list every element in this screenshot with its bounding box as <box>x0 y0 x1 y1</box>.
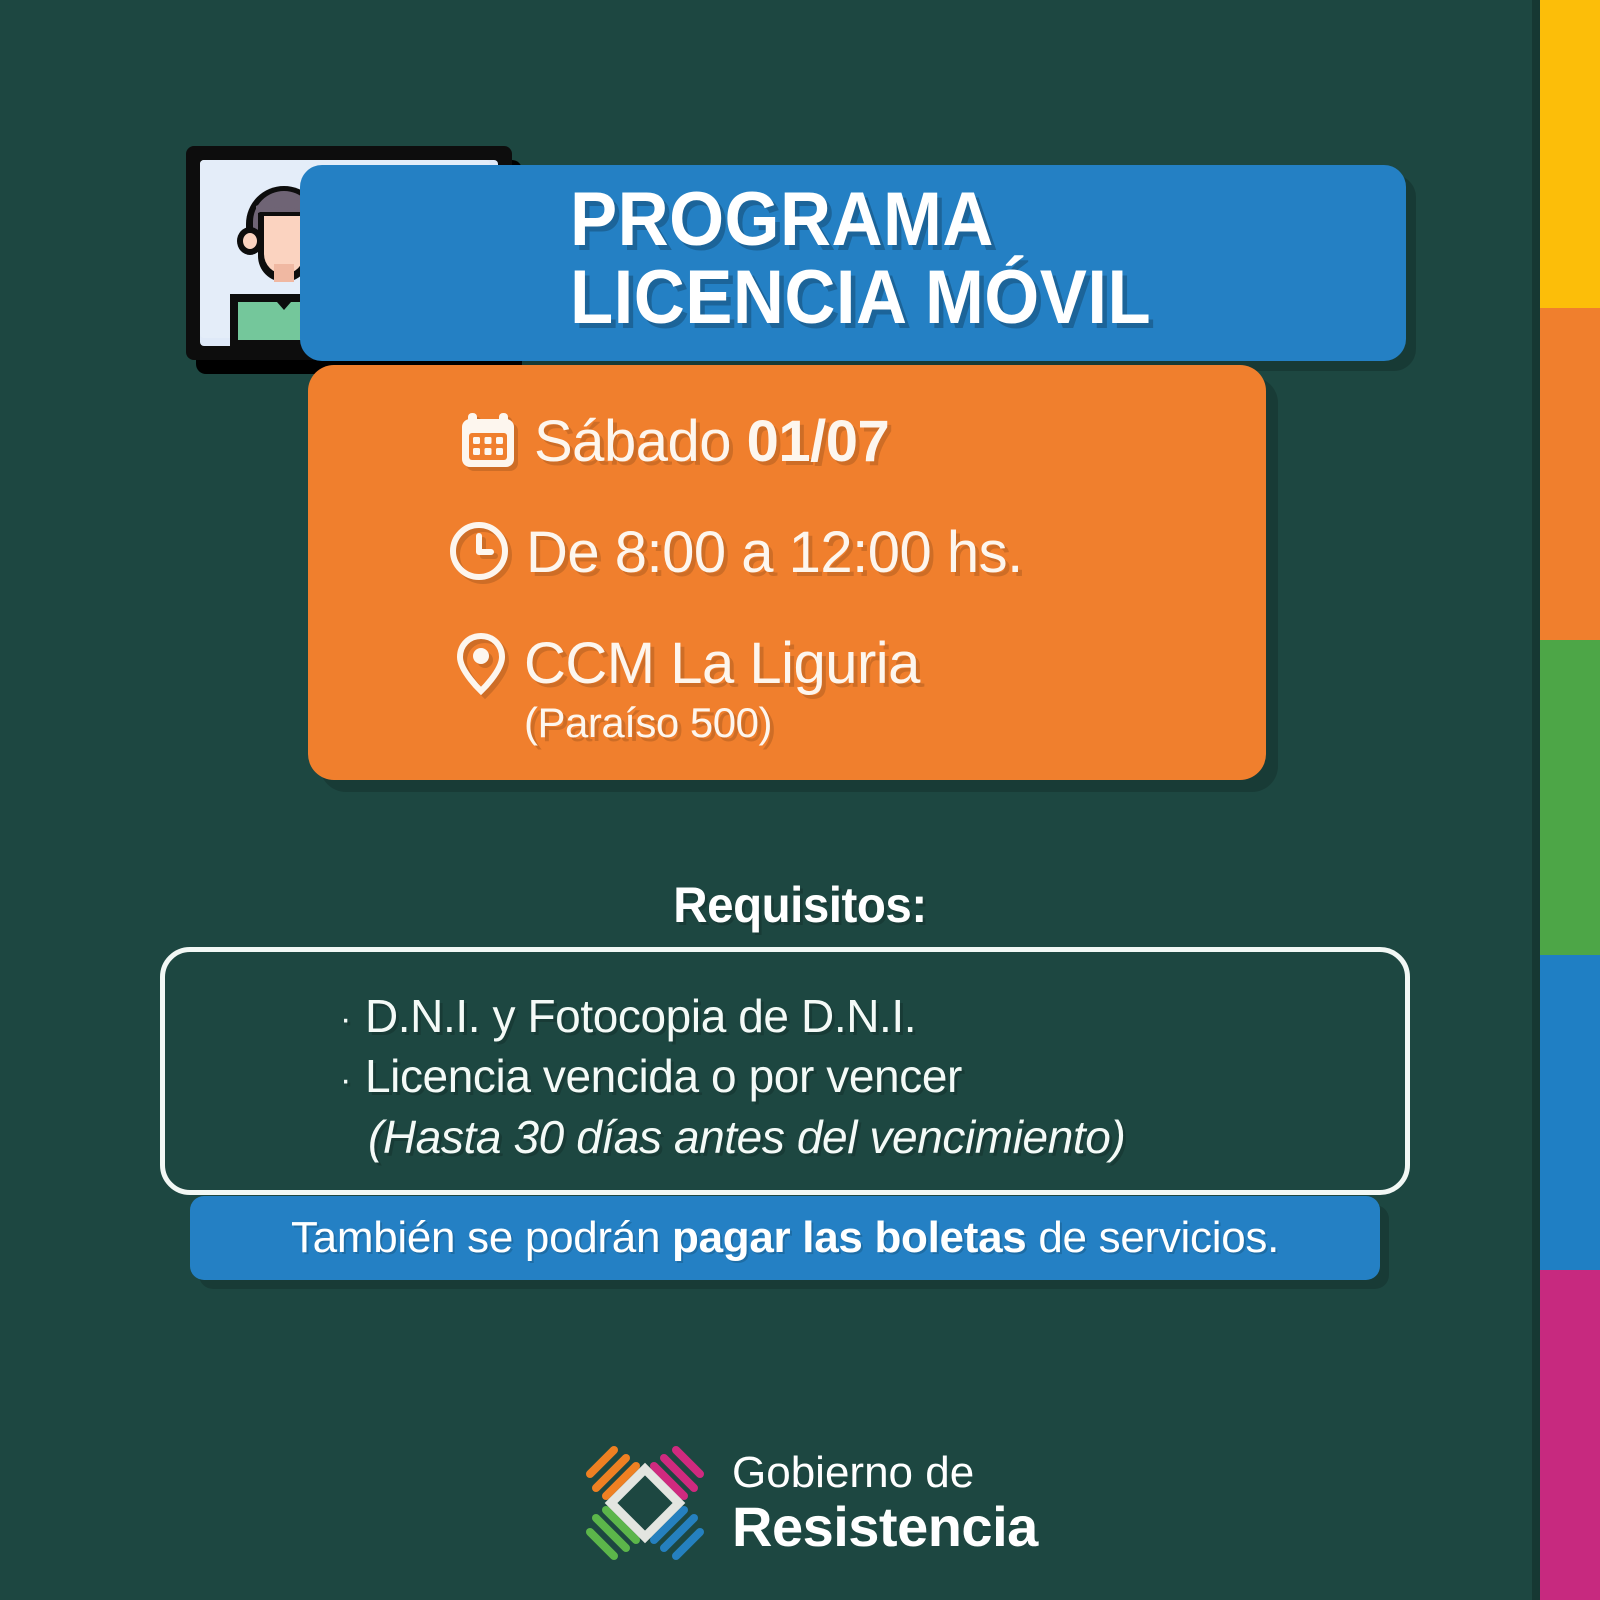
government-diamond-logo-icon <box>580 1438 710 1568</box>
payment-notice-text: También se podrán pagar las boletas de s… <box>291 1213 1279 1263</box>
event-time-text: De 8:00 a 12:00 hs. <box>526 522 1023 584</box>
right-colour-strip <box>1540 0 1600 1600</box>
event-place-text: CCM La Liguria (Paraíso 500) <box>524 633 920 749</box>
requirements-list: ·D.N.I. y Fotocopia de D.N.I. ·Licencia … <box>340 988 1125 1166</box>
event-place-address: (Paraíso 500) <box>524 697 920 749</box>
requirements-box: ·D.N.I. y Fotocopia de D.N.I. ·Licencia … <box>160 947 1410 1195</box>
payment-suffix: de servicios. <box>1026 1213 1279 1262</box>
title-plate: PROGRAMA LICENCIA MÓVIL <box>300 165 1406 361</box>
edge-strip-segment-5 <box>1540 1270 1600 1600</box>
requirement-note: (Hasta 30 días antes del vencimiento) <box>340 1109 1125 1166</box>
logo-wordmark: Gobierno de Resistencia <box>732 1451 1038 1555</box>
event-info-card: Sábado 01/07 De 8:00 a 12:00 hs. CCM La … <box>308 365 1266 780</box>
logo-line-1: Gobierno de <box>732 1451 1038 1495</box>
payment-notice-bar: También se podrán pagar las boletas de s… <box>190 1196 1380 1280</box>
map-pin-icon <box>456 633 506 695</box>
edge-strip-gap <box>1532 0 1540 1600</box>
payment-highlight: pagar las boletas <box>672 1213 1026 1262</box>
event-date-text: Sábado 01/07 <box>534 411 889 473</box>
page-title: PROGRAMA LICENCIA MÓVIL <box>570 181 1151 338</box>
government-logo: Gobierno de Resistencia <box>580 1438 1038 1568</box>
requirement-text-1: D.N.I. y Fotocopia de D.N.I. <box>365 990 916 1042</box>
clock-icon <box>450 522 508 580</box>
event-date-value: 01/07 <box>747 409 890 474</box>
requirements-title: Requisitos: <box>40 876 1560 934</box>
bullet-icon: · <box>340 1061 351 1099</box>
event-place-row: CCM La Liguria (Paraíso 500) <box>456 633 920 749</box>
list-item: ·D.N.I. y Fotocopia de D.N.I. <box>340 988 1125 1048</box>
edge-strip-segment-2 <box>1540 308 1600 640</box>
event-place-label: CCM La Liguria <box>524 631 920 696</box>
edge-strip-segment-1 <box>1540 0 1600 308</box>
edge-strip-segment-4 <box>1540 955 1600 1270</box>
logo-line-2: Resistencia <box>732 1499 1038 1555</box>
list-item: ·Licencia vencida o por vencer (Hasta 30… <box>340 1048 1125 1165</box>
event-time-row: De 8:00 a 12:00 hs. <box>450 522 1023 584</box>
event-date-row: Sábado 01/07 <box>460 411 889 473</box>
payment-prefix: También se podrán <box>291 1213 672 1262</box>
bullet-icon: · <box>340 1000 351 1038</box>
poster-canvas: PROGRAMA LICENCIA MÓVIL <box>0 0 1600 1600</box>
calendar-icon <box>460 411 516 469</box>
event-date-label: Sábado <box>534 409 747 474</box>
requirement-text-2: Licencia vencida o por vencer <box>365 1050 962 1102</box>
